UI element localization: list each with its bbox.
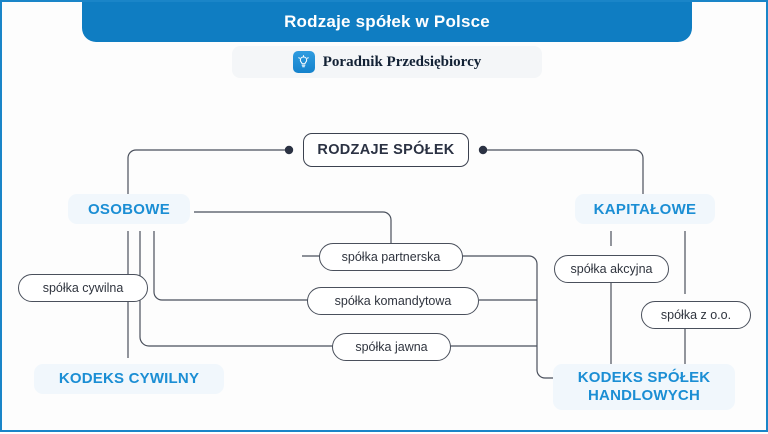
node-osobowe[interactable]: OSOBOWE: [68, 194, 190, 224]
node-label: RODZAJE SPÓŁEK: [317, 142, 454, 158]
node-spolka-cywilna[interactable]: spółka cywilna: [18, 274, 148, 302]
node-label: KAPITAŁOWE: [594, 201, 697, 218]
node-kodeks-cywilny[interactable]: KODEKS CYWILNY: [34, 364, 224, 394]
root-connector-dot-left: [285, 146, 293, 154]
node-spolka-partnerska[interactable]: spółka partnerska: [319, 243, 463, 271]
node-label: spółka komandytowa: [335, 294, 452, 308]
node-spolka-zoo[interactable]: spółka z o.o.: [641, 301, 751, 329]
node-label: spółka cywilna: [43, 281, 124, 295]
node-label: spółka z o.o.: [661, 308, 731, 322]
node-label-line-1: KODEKS SPÓŁEK: [578, 369, 711, 387]
node-spolka-akcyjna[interactable]: spółka akcyjna: [554, 255, 669, 283]
company-types-mindmap: RODZAJE SPÓŁEK OSOBOWE KAPITAŁOWE spółka…: [2, 2, 768, 434]
node-spolka-jawna[interactable]: spółka jawna: [332, 333, 451, 361]
node-rodzaje-spolek[interactable]: RODZAJE SPÓŁEK: [303, 133, 469, 167]
node-spolka-komandytowa[interactable]: spółka komandytowa: [307, 287, 479, 315]
node-label: OSOBOWE: [88, 201, 170, 218]
node-label-line-2: HANDLOWYCH: [588, 387, 700, 405]
node-kodeks-spolek-handlowych[interactable]: KODEKS SPÓŁEK HANDLOWYCH: [553, 364, 735, 410]
root-connector-dot-right: [479, 146, 487, 154]
node-kapitalowe[interactable]: KAPITAŁOWE: [575, 194, 715, 224]
page-frame: Rodzaje spółek w Polsce Poradnik Przedsi…: [0, 0, 768, 432]
node-label: KODEKS CYWILNY: [59, 370, 199, 388]
node-label: spółka jawna: [355, 340, 427, 354]
node-label: spółka partnerska: [342, 250, 441, 264]
node-label: spółka akcyjna: [571, 262, 653, 276]
